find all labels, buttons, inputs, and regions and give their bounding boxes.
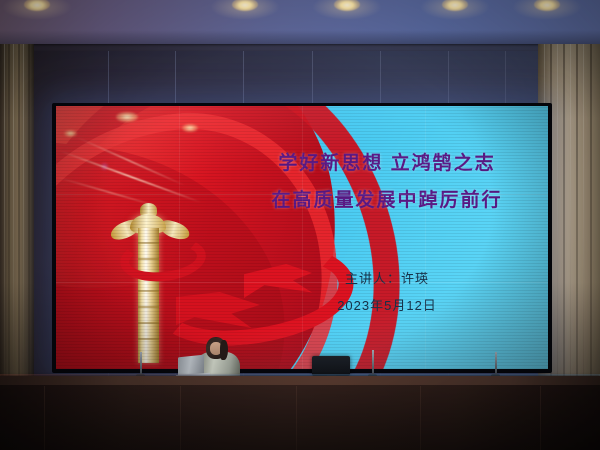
curtain-left bbox=[0, 44, 34, 384]
conference-room-photo: 学好新思想 立鸿鹄之志 在高质量发展中踔厉前行 主讲人：许瑛 2023年5月12… bbox=[0, 0, 600, 450]
microphone-stem bbox=[495, 352, 497, 376]
microphone-stem bbox=[140, 352, 142, 376]
presenter-hair bbox=[220, 340, 228, 360]
microphone-stem bbox=[372, 350, 374, 376]
led-screen[interactable]: 学好新思想 立鸿鹄之志 在高质量发展中踔厉前行 主讲人：许瑛 2023年5月12… bbox=[56, 106, 548, 369]
desk-monitor bbox=[312, 356, 350, 376]
podium-shading bbox=[0, 385, 600, 450]
screen-vignette bbox=[56, 106, 548, 369]
curtain-shadow bbox=[0, 44, 34, 384]
